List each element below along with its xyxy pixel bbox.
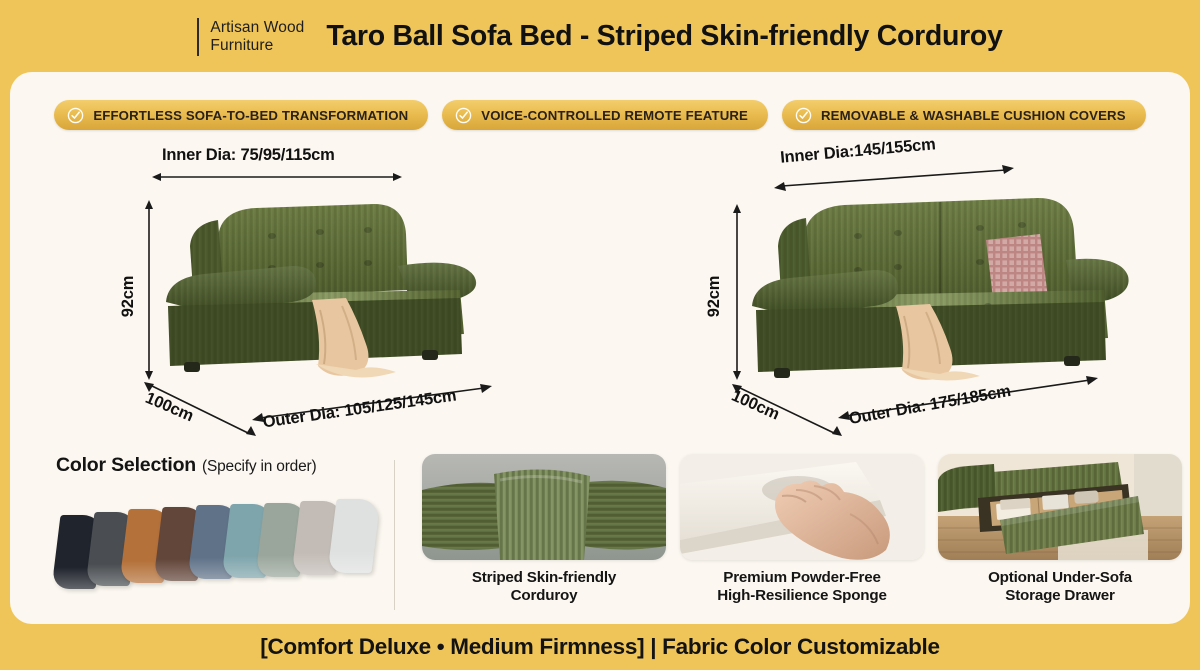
feature-caption: Optional Under-Sofa Storage Drawer [938,569,1182,605]
footer-bar: [Comfort Deluxe • Medium Firmness] | Fab… [0,624,1200,670]
brand-divider-rule [197,18,199,56]
left-height-arrow [142,200,156,380]
page-title: Taro Ball Sofa Bed - Striped Skin-friend… [326,20,1002,53]
right-height-arrow [730,204,744,380]
bottom-section: Color Selection (Specify in order) [10,454,1190,624]
right-height-label: 92cm [705,276,724,317]
section-divider [394,460,395,610]
circle-check-icon [795,107,812,124]
left-inner-dia-arrow [152,170,402,184]
feature-card-storage[interactable]: Optional Under-Sofa Storage Drawer [938,454,1182,605]
sofa-illustration [748,188,1138,388]
badge-label: REMOVABLE & WASHABLE CUSHION COVERS [821,108,1126,123]
feature-caption: Premium Powder-Free High-Resilience Spon… [680,569,924,605]
badge-label: EFFORTLESS SOFA-TO-BED TRANSFORMATION [93,108,408,123]
header: Artisan Wood Furniture Taro Ball Sofa Be… [0,0,1200,72]
feature-badge-row: EFFORTLESS SOFA-TO-BED TRANSFORMATION VO… [10,100,1190,130]
swatch-ivory-white[interactable] [327,499,380,573]
badge-sofa-to-bed[interactable]: EFFORTLESS SOFA-TO-BED TRANSFORMATION [54,100,428,130]
feature-card-corduroy[interactable]: Striped Skin-friendly Corduroy [422,454,666,605]
single-seat-sofa-diagram: Inner Dia: 75/95/115cm 92cm [122,142,542,442]
circle-check-icon [455,107,472,124]
footer-text: [Comfort Deluxe • Medium Firmness] | Fab… [260,634,939,660]
badge-label: VOICE-CONTROLLED REMOTE FEATURE [481,108,748,123]
feature-card-sponge[interactable]: Premium Powder-Free High-Resilience Spon… [680,454,924,605]
circle-check-icon [67,107,84,124]
feature-caption: Striped Skin-friendly Corduroy [422,569,666,605]
right-inner-dia-label: Inner Dia:145/155cm [779,135,936,168]
brand-name: Artisan Wood Furniture [210,19,304,56]
double-seat-sofa-diagram: Inner Dia:145/155cm 92cm [702,142,1172,442]
brand-logo: Artisan Wood Furniture [197,18,304,56]
feature-card-row: Striped Skin-friendly Corduroy [422,454,1182,605]
dimension-diagrams: Inner Dia: 75/95/115cm 92cm [10,142,1190,442]
sofa-illustration [160,194,490,384]
badge-voice-remote[interactable]: VOICE-CONTROLLED REMOTE FEATURE [442,100,768,130]
hand-pressing-foam-photo [680,454,924,560]
content-card: EFFORTLESS SOFA-TO-BED TRANSFORMATION VO… [10,72,1190,624]
left-height-label: 92cm [119,276,138,317]
color-selection-subtitle: (Specify in order) [202,458,316,476]
fabric-swatch-row [56,499,378,577]
color-selection-section: Color Selection (Specify in order) [56,454,386,577]
open-storage-drawer-photo [938,454,1182,560]
infographic-page: Artisan Wood Furniture Taro Ball Sofa Be… [0,0,1200,670]
color-selection-heading: Color Selection (Specify in order) [56,454,386,477]
green-corduroy-fabric-photo [422,454,666,560]
color-selection-title: Color Selection [56,454,196,477]
badge-washable-covers[interactable]: REMOVABLE & WASHABLE CUSHION COVERS [782,100,1146,130]
left-inner-dia-label: Inner Dia: 75/95/115cm [162,146,335,165]
